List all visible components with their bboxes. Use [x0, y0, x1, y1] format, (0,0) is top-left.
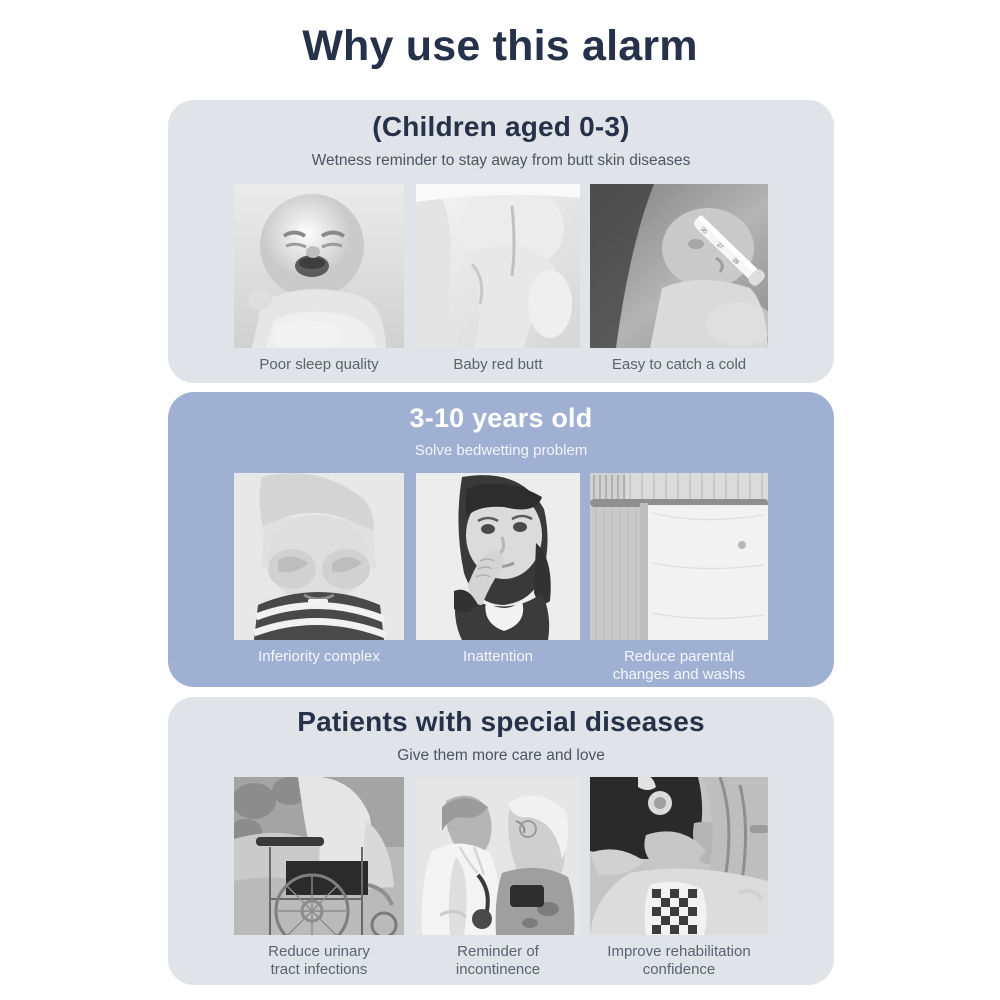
card-reduce-urinary-tract-infections: Reduce urinary tract infections: [234, 777, 404, 980]
panel-subtitle: Wetness reminder to stay away from butt …: [168, 152, 834, 170]
panel-heading: 3-10 years old: [168, 403, 834, 434]
card-caption: Reminder of incontinence: [416, 943, 580, 980]
card-caption: Baby red butt: [416, 356, 580, 374]
panel-3-10-years-old: 3-10 years old Solve bedwetting problem: [168, 392, 834, 687]
card-baby-red-butt: Baby red butt: [416, 184, 580, 374]
boy-rubbing-eyes-photo: [234, 473, 404, 640]
wheelchair-patient-photo: [234, 777, 404, 935]
card-caption: Reduce parental changes and washs: [590, 648, 768, 685]
drying-laundry-photo: [590, 473, 768, 640]
panel-subtitle: Solve bedwetting problem: [168, 442, 834, 459]
card-inattention: Inattention: [416, 473, 580, 666]
crying-baby-photo: [234, 184, 404, 348]
card-caption: Improve rehabilitation confidence: [590, 943, 768, 980]
panel-heading: Patients with special diseases: [168, 706, 834, 738]
card-caption: Inattention: [416, 648, 580, 666]
card-caption: Reduce urinary tract infections: [234, 943, 404, 980]
card-reminder-of-incontinence: Reminder of incontinence: [416, 777, 580, 980]
card-caption: Inferiority complex: [234, 648, 404, 666]
panel-special-diseases: Patients with special diseases Give them…: [168, 697, 834, 985]
card-easy-to-catch-a-cold: 353739 Easy to catch a cold: [590, 184, 768, 374]
page-title: Why use this alarm: [0, 22, 1000, 71]
card-caption: Poor sleep quality: [234, 356, 404, 374]
card-reduce-parental-changes: Reduce parental changes and washs: [590, 473, 768, 685]
panel-heading: (Children aged 0-3): [168, 111, 834, 143]
caregiver-bedside-photo: [590, 777, 768, 935]
girl-daydreaming-photo: [416, 473, 580, 640]
card-inferiority-complex: Inferiority complex: [234, 473, 404, 666]
panel-subtitle: Give them more care and love: [168, 747, 834, 765]
card-poor-sleep-quality: Poor sleep quality: [234, 184, 404, 374]
promo-infographic: Why use this alarm (Children aged 0-3) W…: [0, 0, 1000, 1000]
baby-legs-photo: [416, 184, 580, 348]
card-caption: Easy to catch a cold: [590, 356, 768, 374]
baby-thermometer-photo: 353739: [590, 184, 768, 348]
panel-children-0-3: (Children aged 0-3) Wetness reminder to …: [168, 100, 834, 383]
nurse-blood-pressure-photo: [416, 777, 580, 935]
card-improve-rehabilitation-confidence: Improve rehabilitation confidence: [590, 777, 768, 980]
